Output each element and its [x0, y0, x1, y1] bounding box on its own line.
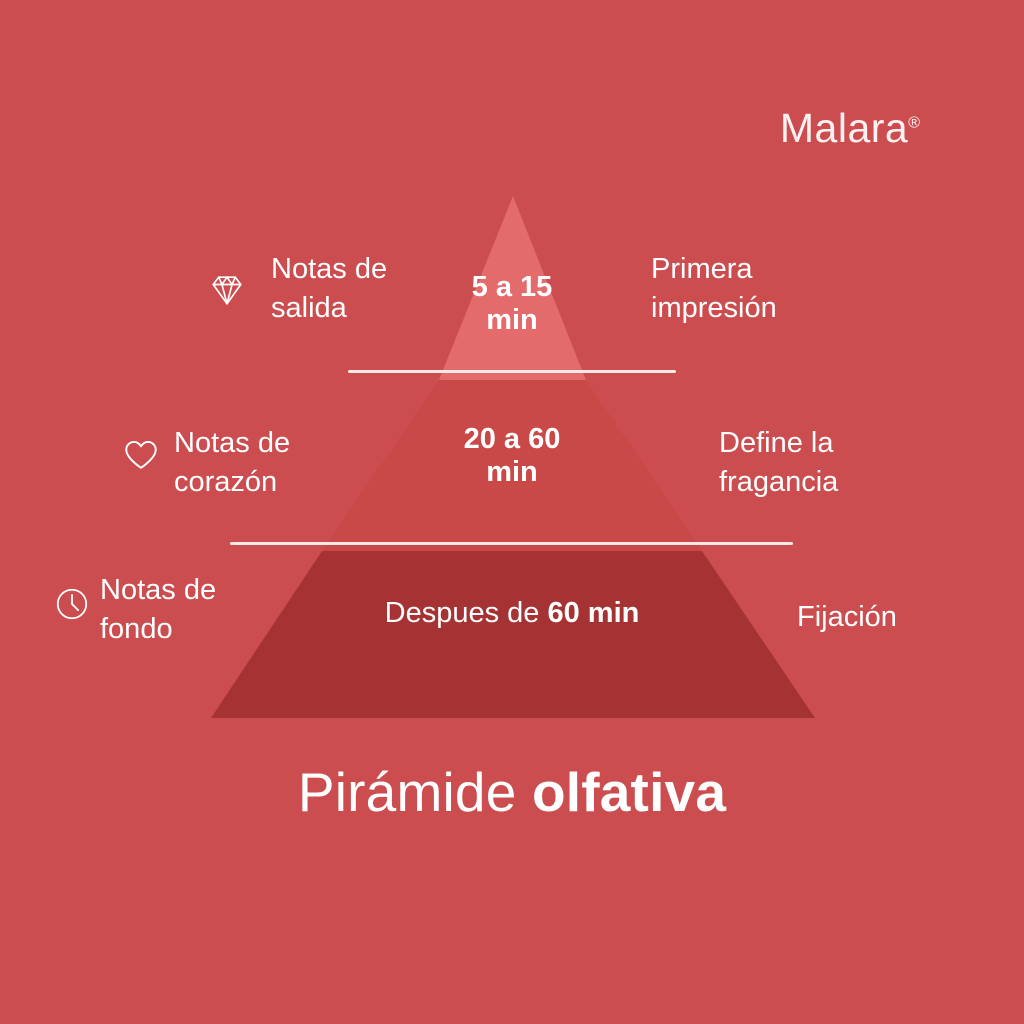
diamond-icon: [205, 268, 249, 312]
tier-top-center-label: 5 a 15 min: [412, 271, 612, 338]
tier-divider-top: [348, 370, 676, 373]
tier-middle-left-label: Notas de corazón: [174, 424, 290, 501]
clock-icon: [53, 585, 91, 623]
pyramid-tier-bottom: [211, 551, 815, 718]
page-title-regular: Pirámide: [298, 761, 532, 823]
tier-bottom-center-label: Despues de 60 min: [302, 597, 722, 630]
tier-bottom-center-prefix: Despues de: [385, 597, 548, 629]
tier-middle-center-label: 20 a 60 min: [402, 423, 622, 490]
tier-bottom-left-label: Notas de fondo: [100, 571, 216, 648]
brand-logo: Malara®: [780, 108, 920, 149]
tier-bottom-center-value: 60 min: [547, 597, 639, 629]
infographic-canvas: Malara® Notas de salida 5 a 15 min Prime…: [0, 0, 1024, 1024]
pyramid-graphic: [0, 0, 1024, 1024]
registered-trademark-icon: ®: [908, 114, 920, 131]
tier-divider-bottom: [230, 542, 793, 545]
page-title-bold: olfativa: [532, 761, 726, 823]
tier-top-left-label: Notas de salida: [271, 250, 387, 327]
heart-icon: [122, 436, 160, 474]
tier-middle-right-label: Define la fragancia: [719, 424, 838, 501]
tier-bottom-right-label: Fijación: [797, 598, 897, 637]
tier-top-right-label: Primera impresión: [651, 250, 777, 327]
brand-name: Malara: [780, 105, 908, 151]
page-title: Pirámide olfativa: [0, 762, 1024, 823]
